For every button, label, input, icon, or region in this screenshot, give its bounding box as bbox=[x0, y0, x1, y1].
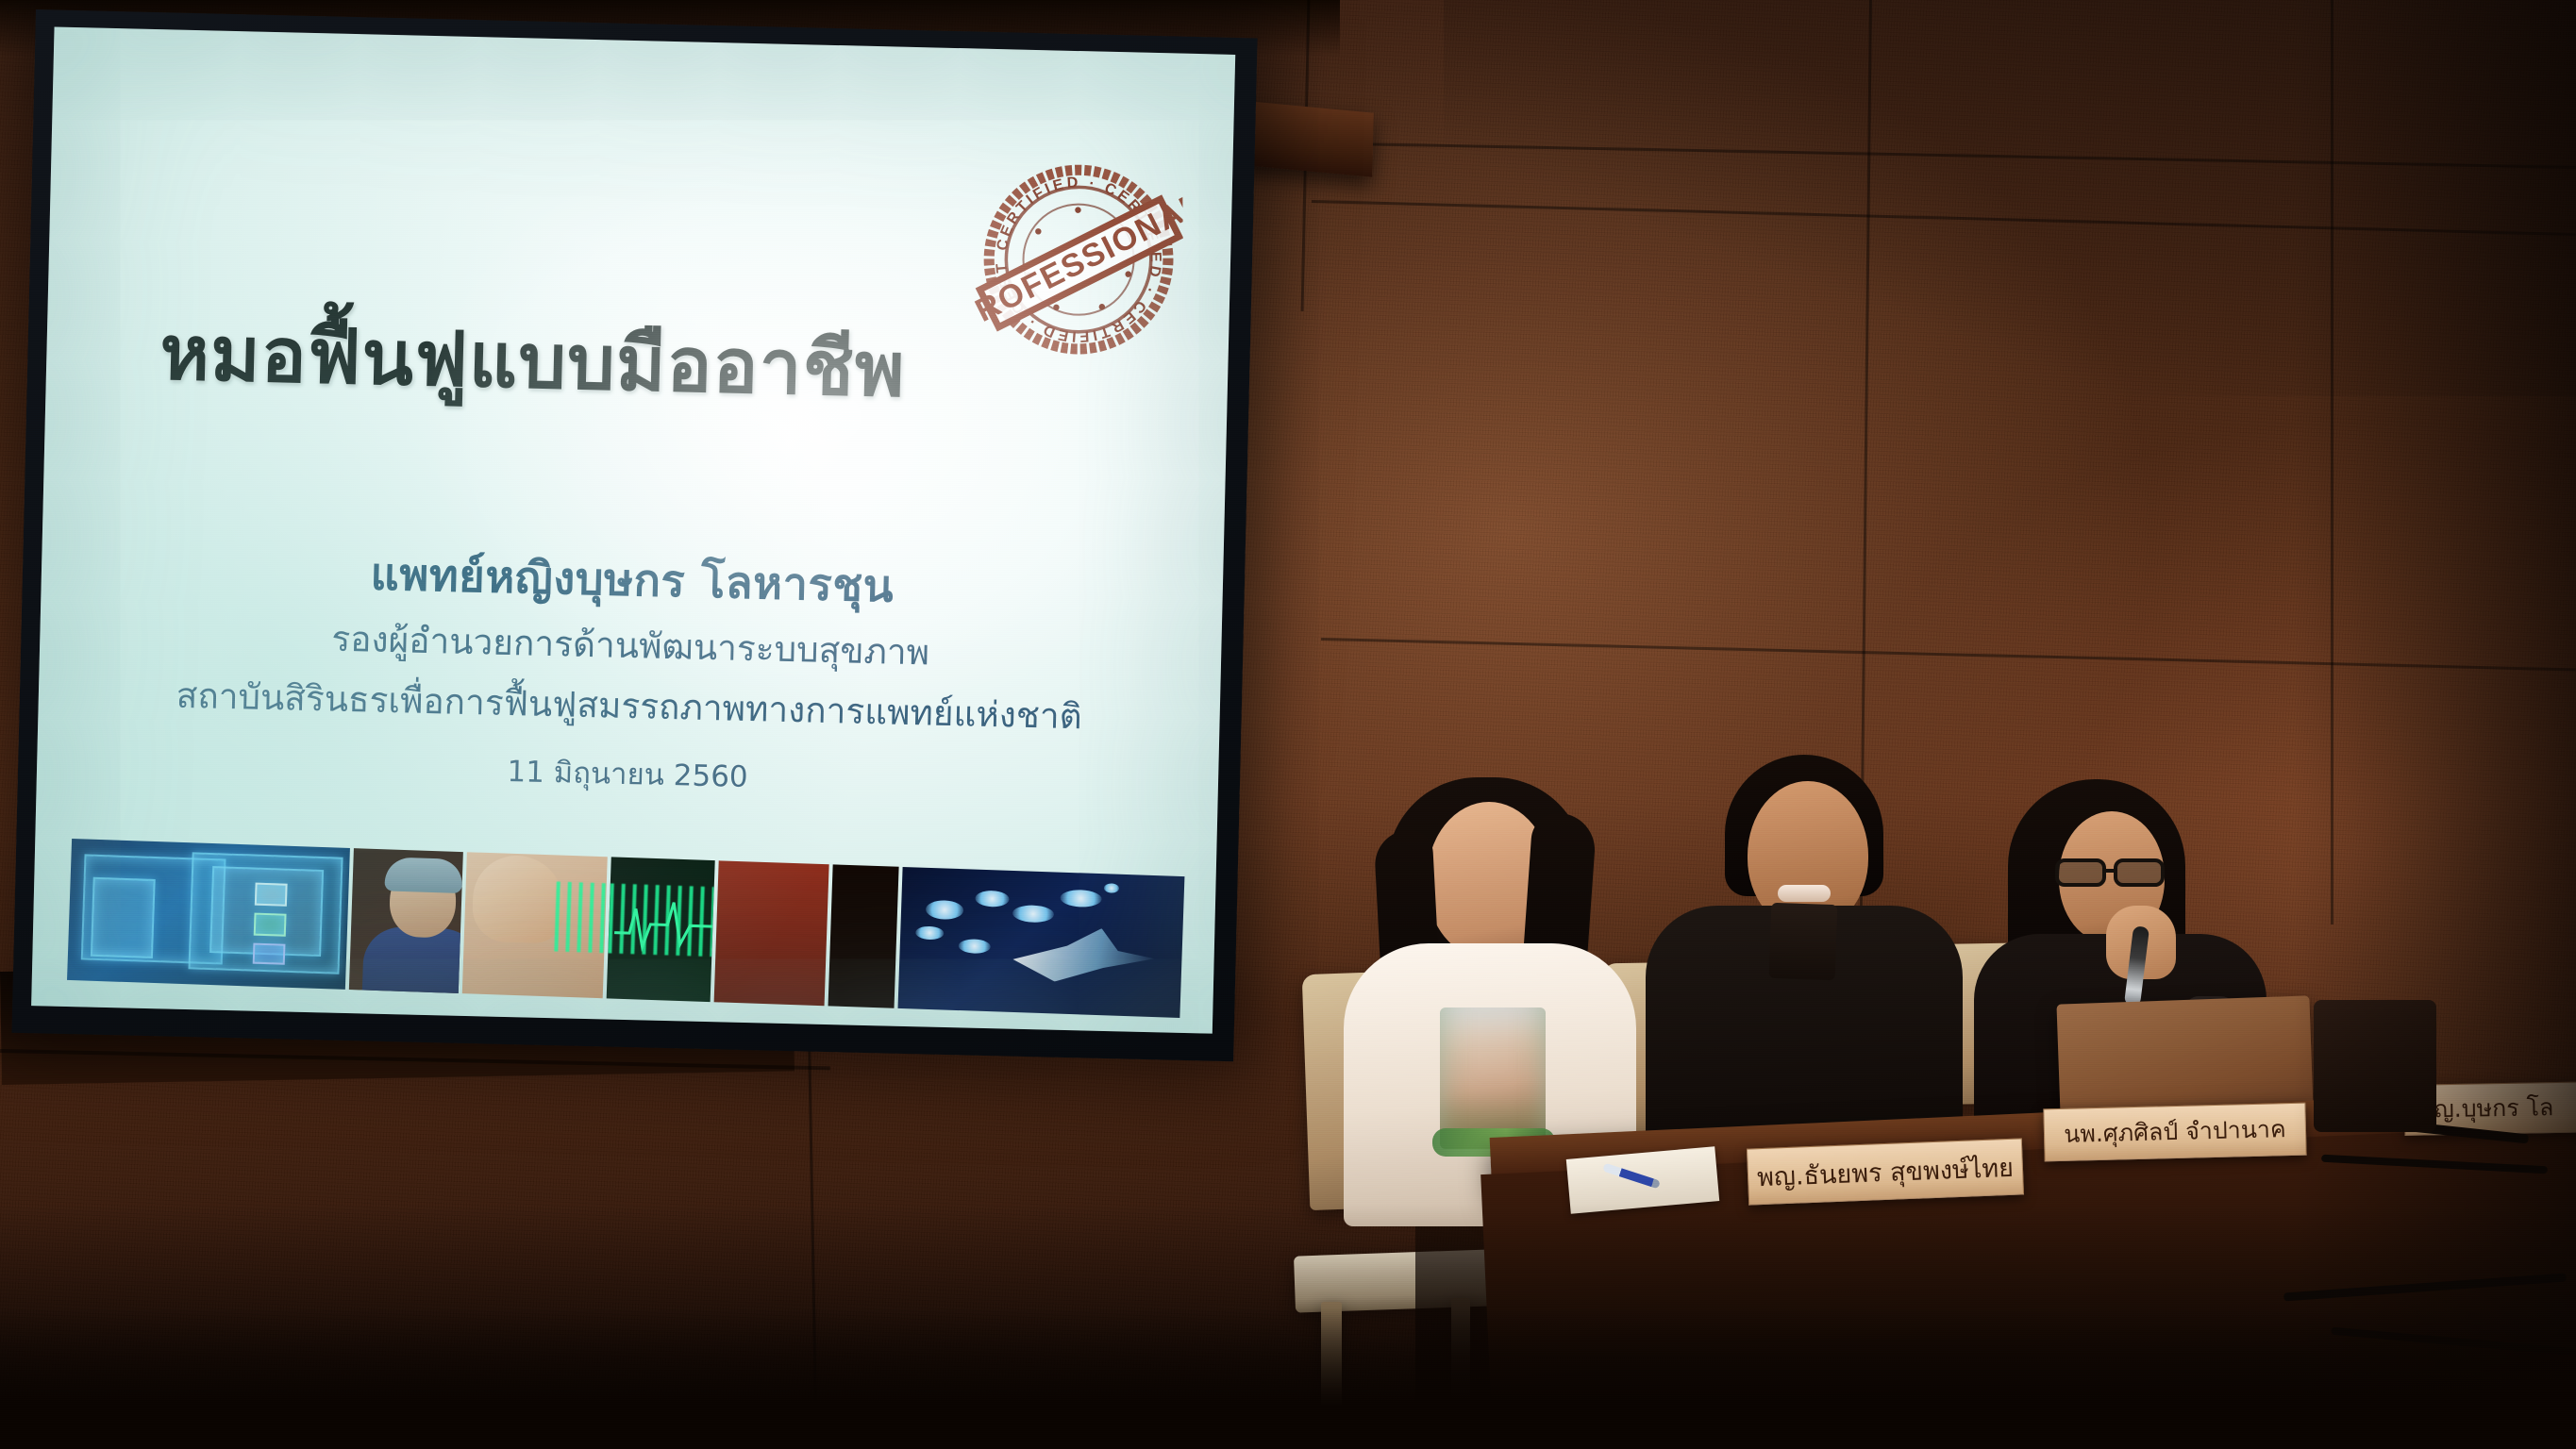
hand-holding-device-image bbox=[461, 852, 608, 998]
digital-network-map-image bbox=[898, 867, 1185, 1018]
holographic-medical-interface-image bbox=[67, 839, 350, 990]
room-photo: CERTIFIED · CERTIFIED · CERTIFIED · CERT… bbox=[0, 0, 2576, 1449]
slide-content: CERTIFIED · CERTIFIED · CERTIFIED · CERT… bbox=[31, 26, 1235, 1033]
chair-back bbox=[2314, 1000, 2436, 1132]
ekg-line-icon bbox=[613, 891, 713, 958]
slide-surface: CERTIFIED · CERTIFIED · CERTIFIED · CERT… bbox=[31, 26, 1235, 1033]
collar bbox=[1769, 903, 1838, 980]
slide-title: หมอฟื้นฟูแบบมืออาชีพ bbox=[159, 312, 1029, 414]
surgeon-portrait-image bbox=[349, 848, 463, 993]
projection-screen: CERTIFIED · CERTIFIED · CERTIFIED · CERT… bbox=[11, 9, 1263, 1075]
teeth bbox=[1778, 885, 1831, 902]
red-panel-image bbox=[713, 860, 829, 1006]
green-ekg-waveform-image bbox=[607, 857, 715, 1002]
nameplate-center: นพ.ศุภศิลป์ จำปานาค bbox=[2043, 1103, 2306, 1162]
wall-seam bbox=[2331, 0, 2333, 924]
slide-image-strip bbox=[67, 839, 1184, 1018]
slide-date: 11 มิถุนายน 2560 bbox=[37, 736, 1219, 810]
glasses-icon bbox=[2053, 855, 2172, 891]
floor-shadow bbox=[0, 1307, 2576, 1449]
dark-gap bbox=[828, 864, 899, 1008]
nameplate-left: พญ.ธันยพร สุขพงษ์ไทย bbox=[1747, 1138, 2024, 1205]
